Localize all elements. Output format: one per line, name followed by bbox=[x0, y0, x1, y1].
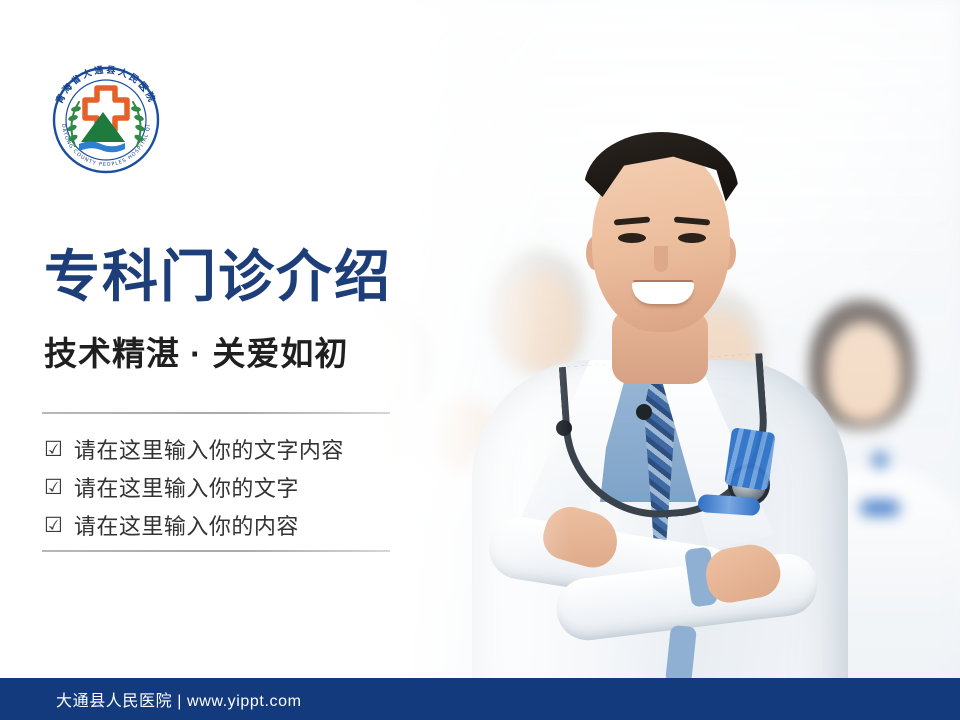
list-item-label: 请在这里输入你的内容 bbox=[74, 509, 299, 541]
list-item: ☑ 请在这里输入你的文字内容 bbox=[44, 430, 344, 468]
eye-left bbox=[618, 233, 646, 243]
smiling-mouth bbox=[632, 282, 694, 304]
bullet-list: ☑ 请在这里输入你的文字内容 ☑ 请在这里输入你的文字 ☑ 请在这里输入你的内容 bbox=[44, 430, 344, 544]
divider-bottom bbox=[42, 550, 390, 552]
stethoscope-earpiece-right bbox=[636, 404, 652, 420]
checked-checkbox-icon: ☑ bbox=[44, 477, 63, 498]
footer-label: 大通县人民医院 | www.yippt.com bbox=[56, 687, 302, 711]
presentation-slide: 青海省大通县人民医院 TONG DATONG COUNTY PEOPLES HO… bbox=[0, 0, 960, 720]
doctor-team-photo bbox=[340, 0, 960, 684]
nose bbox=[654, 246, 668, 272]
list-item-label: 请在这里输入你的文字内容 bbox=[74, 433, 344, 465]
checked-checkbox-icon: ☑ bbox=[44, 515, 63, 536]
hospital-logo: 青海省大通县人民医院 TONG DATONG COUNTY PEOPLES HO… bbox=[45, 58, 167, 176]
pocket-pens bbox=[724, 427, 776, 491]
checked-checkbox-icon: ☑ bbox=[44, 439, 63, 460]
list-item: ☑ 请在这里输入你的文字 bbox=[44, 468, 344, 506]
photo-left-fade bbox=[340, 0, 570, 684]
slide-title: 专科门诊介绍 bbox=[44, 248, 392, 307]
list-item: ☑ 请在这里输入你的内容 bbox=[44, 506, 344, 544]
slide-subtitle: 技术精湛 · 关爱如初 bbox=[44, 327, 348, 375]
list-item-label: 请在这里输入你的文字 bbox=[74, 471, 299, 503]
eye-right bbox=[678, 233, 706, 243]
divider-top bbox=[42, 412, 390, 414]
footer-bar: 大通县人民医院 | www.yippt.com bbox=[0, 678, 960, 720]
